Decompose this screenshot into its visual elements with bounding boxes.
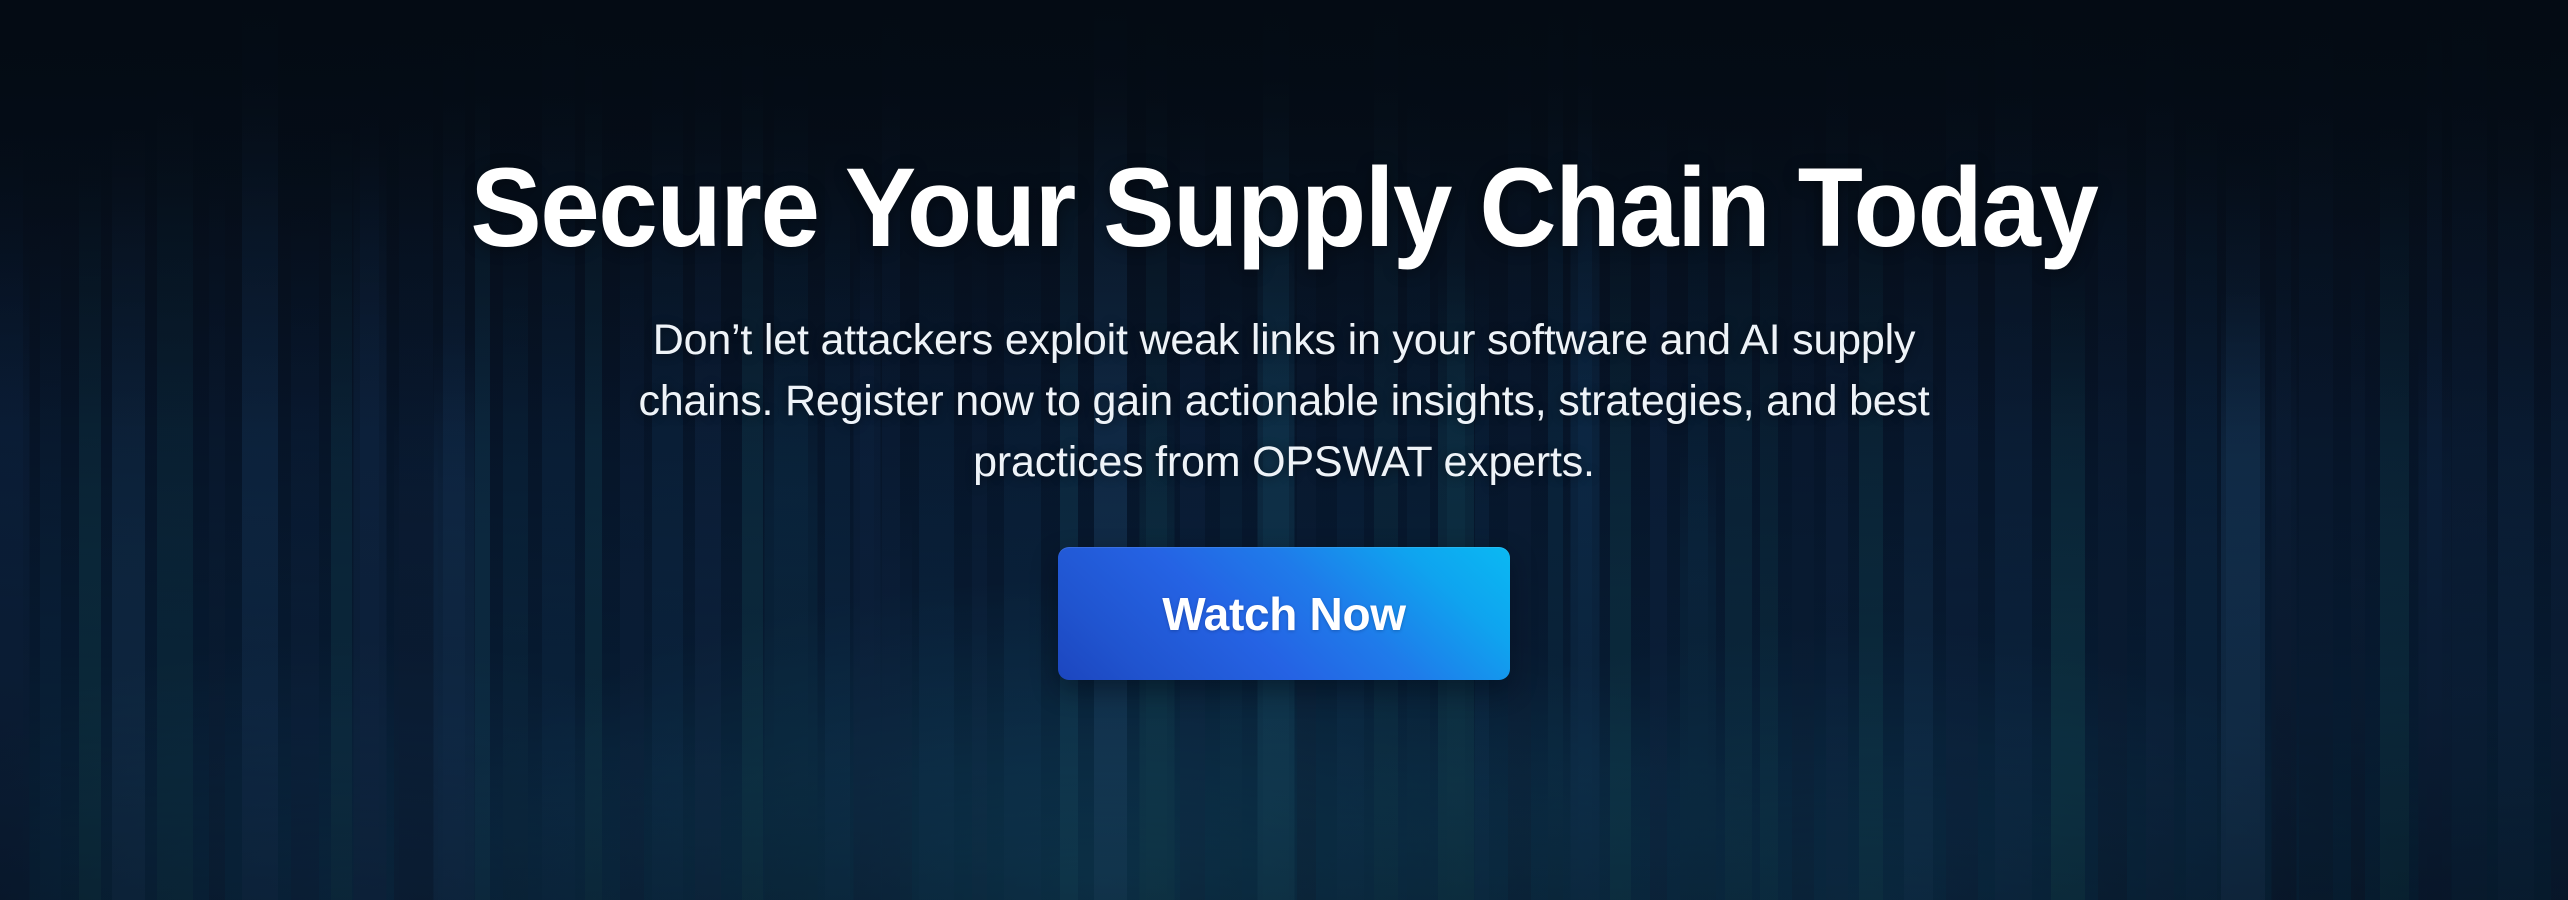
cta-container: Watch Now xyxy=(1058,547,1510,680)
watch-now-button[interactable]: Watch Now xyxy=(1058,547,1510,680)
page-title: Secure Your Supply Chain Today xyxy=(470,152,2097,264)
hero-content: Secure Your Supply Chain Today Don’t let… xyxy=(0,0,2568,900)
hero-subtitle: Don’t let attackers exploit weak links i… xyxy=(584,310,1984,493)
hero-banner: Secure Your Supply Chain Today Don’t let… xyxy=(0,0,2568,900)
